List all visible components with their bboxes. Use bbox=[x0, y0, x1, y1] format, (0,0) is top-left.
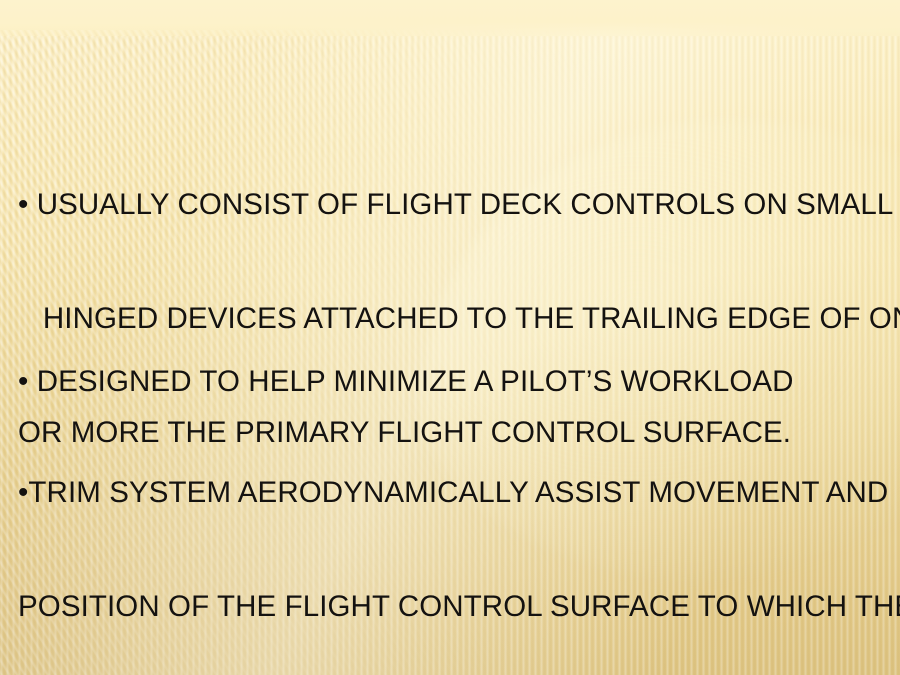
slide-content: • USUALLY CONSIST OF FLIGHT DECK CONTROL… bbox=[0, 0, 900, 675]
bullet-block-3: •TRIM SYSTEM AERODYNAMICALLY ASSIST MOVE… bbox=[0, 398, 900, 675]
presentation-slide: • USUALLY CONSIST OF FLIGHT DECK CONTROL… bbox=[0, 0, 900, 675]
bullet-line: POSITION OF THE FLIGHT CONTROL SURFACE T… bbox=[0, 588, 900, 626]
bullet-line: • USUALLY CONSIST OF FLIGHT DECK CONTROL… bbox=[0, 186, 900, 224]
bullet-line: •TRIM SYSTEM AERODYNAMICALLY ASSIST MOVE… bbox=[0, 474, 900, 512]
bullet-line: • DESIGNED TO HELP MINIMIZE A PILOT’S WO… bbox=[0, 363, 900, 401]
